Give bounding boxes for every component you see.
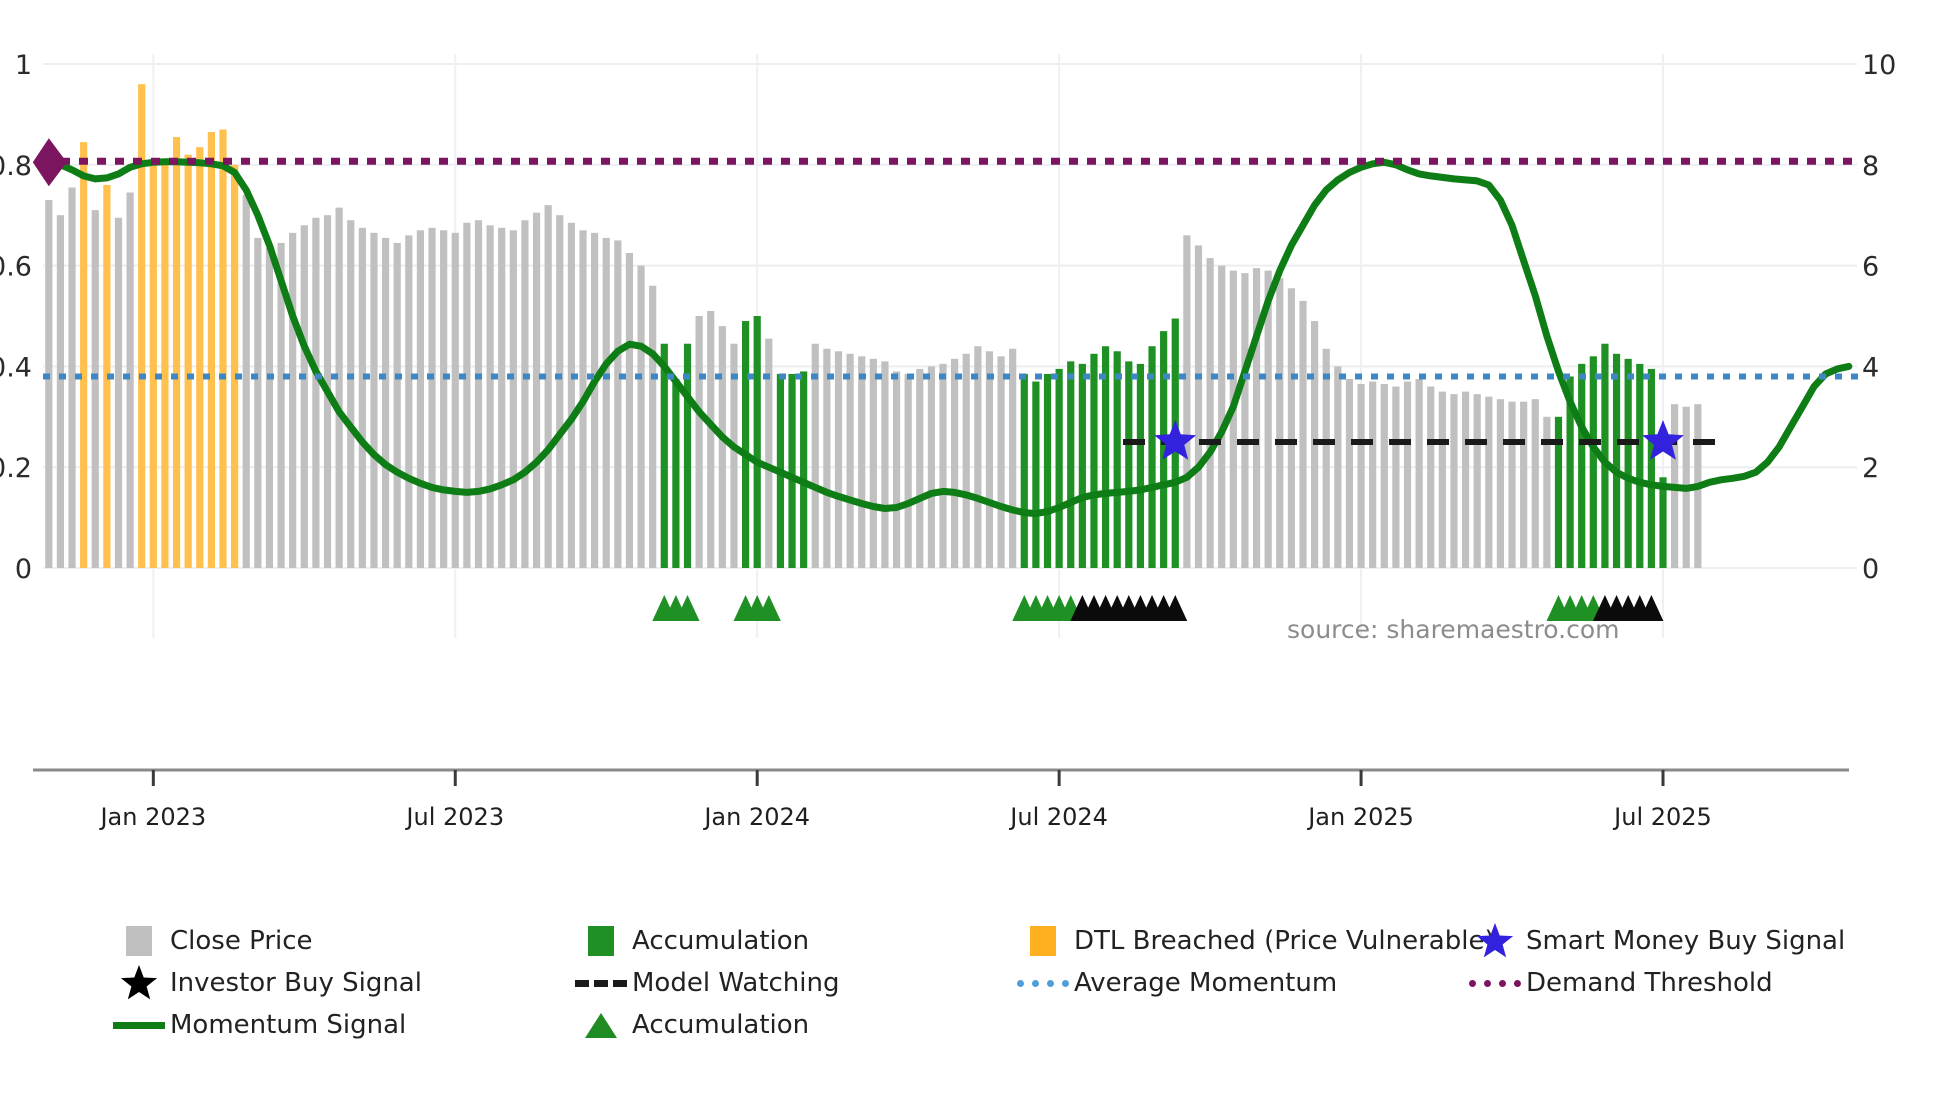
bar-close-price <box>556 215 563 568</box>
bar-close-price <box>1381 384 1388 568</box>
bar-accumulation <box>1578 364 1585 568</box>
bar-accumulation <box>1148 346 1155 568</box>
legend-item-dtl-breached[interactable]: DTL Breached (Price Vulnerable) <box>1012 920 1495 962</box>
legend-item-accumulation-triangle[interactable]: Accumulation <box>570 1004 809 1046</box>
x-axis-label: Jan 2023 <box>98 803 206 831</box>
bar-close-price <box>1009 349 1016 568</box>
legend-row: Momentum SignalAccumulation <box>108 1004 1908 1046</box>
bar-close-price <box>370 233 377 568</box>
bar-close-price <box>974 346 981 568</box>
bar-close-price <box>382 238 389 568</box>
bar-close-price <box>1253 268 1260 568</box>
bar-dtl-breached <box>173 137 180 568</box>
dotted-line-icon <box>1012 980 1074 987</box>
bar-close-price <box>57 215 64 568</box>
bar-accumulation <box>672 379 679 568</box>
legend-label: Smart Money Buy Signal <box>1526 928 1845 954</box>
bar-accumulation <box>1044 374 1051 568</box>
accumulation-bar-swatch-icon <box>570 926 632 956</box>
bar-accumulation <box>1636 364 1643 568</box>
bar-close-price <box>243 195 250 568</box>
bar-close-price <box>428 228 435 568</box>
bar-close-price <box>846 354 853 568</box>
bar-close-price <box>614 240 621 568</box>
bar-accumulation <box>1090 354 1097 568</box>
bar-close-price <box>823 349 830 568</box>
bar-close-price <box>835 351 842 568</box>
bar-dtl-breached <box>161 165 168 568</box>
bar-close-price <box>1241 273 1248 568</box>
y-axis-left-label: 0.6 <box>0 252 32 283</box>
momentum-chart: Jan 2023Jul 2023Jan 2024Jul 2024Jan 2025… <box>0 0 1960 1102</box>
x-axis-label: Jul 2023 <box>404 803 504 831</box>
legend-item-average-momentum[interactable]: Average Momentum <box>1012 962 1337 1004</box>
legend-label: Accumulation <box>632 1012 809 1038</box>
bar-close-price <box>301 225 308 568</box>
bar-close-price <box>475 220 482 568</box>
bar-dtl-breached <box>138 84 145 568</box>
square-icon <box>1030 926 1056 956</box>
close-price-swatch-icon <box>108 926 170 956</box>
bar-close-price <box>1195 245 1202 568</box>
bar-close-price <box>881 361 888 568</box>
legend-item-close-price[interactable]: Close Price <box>108 920 313 962</box>
y-axis-left-label: 0 <box>15 554 32 585</box>
legend-label: Demand Threshold <box>1526 970 1773 996</box>
y-axis-left-label: 0.8 <box>0 151 32 182</box>
bar-dtl-breached <box>185 155 192 568</box>
bar-close-price <box>1520 402 1527 568</box>
bar-close-price <box>1276 278 1283 568</box>
bar-close-price <box>858 356 865 568</box>
source-attribution: source: sharemaestro.com <box>1287 615 1620 644</box>
bar-close-price <box>1404 382 1411 568</box>
bar-close-price <box>1462 392 1469 568</box>
legend-item-model-watching[interactable]: Model Watching <box>570 962 839 1004</box>
bar-close-price <box>1508 402 1515 568</box>
bar-close-price <box>1299 301 1306 568</box>
y-axis-right-label: 4 <box>1862 352 1879 383</box>
bar-close-price <box>719 326 726 568</box>
bar-close-price <box>1288 288 1295 568</box>
y-axis-left-label: 1 <box>15 50 32 81</box>
bar-close-price <box>707 311 714 568</box>
bar-accumulation <box>1032 382 1039 568</box>
bar-close-price <box>1206 258 1213 568</box>
dotted-line-glyph <box>1469 980 1521 987</box>
bar-close-price <box>1427 387 1434 568</box>
bar-close-price <box>1218 266 1225 568</box>
bar-accumulation <box>754 316 761 568</box>
y-axis-right-label: 6 <box>1862 252 1879 283</box>
bar-close-price <box>591 233 598 568</box>
bar-close-price <box>498 228 505 568</box>
star-icon <box>1464 921 1526 961</box>
bar-close-price <box>568 223 575 568</box>
y-axis-right-label: 0 <box>1862 554 1879 585</box>
legend-item-smart-money-buy-signal[interactable]: Smart Money Buy Signal <box>1464 920 1845 962</box>
bar-close-price <box>986 351 993 568</box>
triangle-glyph <box>581 1008 621 1042</box>
bar-close-price <box>1357 384 1364 568</box>
bar-accumulation <box>1648 369 1655 568</box>
bar-accumulation <box>1067 361 1074 568</box>
bar-dtl-breached <box>150 165 157 568</box>
x-axis-label: Jul 2024 <box>1008 803 1108 831</box>
bar-close-price <box>1497 399 1504 568</box>
bar-close-price <box>1532 399 1539 568</box>
square-icon <box>588 926 614 956</box>
bar-close-price <box>916 369 923 568</box>
star-glyph <box>1475 921 1515 961</box>
bar-close-price <box>951 359 958 568</box>
bar-close-price <box>765 339 772 568</box>
bar-accumulation <box>1137 364 1144 568</box>
bar-accumulation <box>661 344 668 568</box>
dashed-line-glyph <box>575 980 627 987</box>
x-axis-label: Jan 2024 <box>702 803 810 831</box>
bar-close-price <box>1323 349 1330 568</box>
bar-close-price <box>68 187 75 568</box>
bar-dtl-breached <box>208 132 215 568</box>
legend-item-momentum-signal[interactable]: Momentum Signal <box>108 1004 406 1046</box>
bar-close-price <box>545 205 552 568</box>
bar-close-price <box>1450 394 1457 568</box>
bar-close-price <box>510 230 517 568</box>
bar-close-price <box>1183 235 1190 568</box>
bar-close-price <box>359 228 366 568</box>
bar-dtl-breached <box>196 147 203 568</box>
bar-close-price <box>405 235 412 568</box>
bar-accumulation <box>1125 361 1132 568</box>
bar-dtl-breached <box>80 142 87 568</box>
legend-label: Investor Buy Signal <box>170 970 422 996</box>
legend-label: Close Price <box>170 928 313 954</box>
bar-accumulation <box>1590 356 1597 568</box>
bar-close-price <box>1346 379 1353 568</box>
bar-close-price <box>92 210 99 568</box>
bar-close-price <box>521 220 528 568</box>
bar-accumulation <box>1021 374 1028 568</box>
solid-line-glyph <box>113 1022 165 1029</box>
bar-close-price <box>649 286 656 568</box>
bar-accumulation <box>1056 369 1063 568</box>
dashed-line-icon <box>570 980 632 987</box>
legend-row: Investor Buy SignalModel WatchingAverage… <box>108 962 1908 1004</box>
dotted-line-icon <box>1464 980 1526 987</box>
bar-close-price <box>312 218 319 568</box>
bar-close-price <box>126 193 133 568</box>
bar-close-price <box>1334 366 1341 568</box>
x-axis-label: Jul 2025 <box>1612 803 1712 831</box>
bar-close-price <box>637 266 644 568</box>
bar-close-price <box>394 243 401 568</box>
bar-close-price <box>997 356 1004 568</box>
bar-accumulation <box>1659 477 1666 568</box>
bar-close-price <box>533 213 540 568</box>
bar-close-price <box>1485 397 1492 568</box>
y-axis-right-label: 8 <box>1862 151 1879 182</box>
bar-dtl-breached <box>219 130 226 568</box>
bar-accumulation <box>742 321 749 568</box>
square-icon <box>126 926 152 956</box>
bar-accumulation <box>1079 364 1086 568</box>
y-axis-right-label: 10 <box>1862 50 1896 81</box>
bar-accumulation <box>1102 346 1109 568</box>
dtl-breached-swatch-icon <box>1012 926 1074 956</box>
legend-label: Average Momentum <box>1074 970 1337 996</box>
bar-close-price <box>347 220 354 568</box>
bar-close-price <box>289 233 296 568</box>
triangle-icon <box>570 1008 632 1042</box>
bar-close-price <box>463 223 470 568</box>
bar-accumulation <box>788 374 795 568</box>
bar-close-price <box>254 238 261 568</box>
bar-close-price <box>417 230 424 568</box>
legend-label: Momentum Signal <box>170 1012 406 1038</box>
legend-label: Model Watching <box>632 970 839 996</box>
legend-item-demand-threshold[interactable]: Demand Threshold <box>1464 962 1773 1004</box>
bar-close-price <box>1474 394 1481 568</box>
bar-close-price <box>266 248 273 568</box>
bar-close-price <box>963 354 970 568</box>
bar-close-price <box>486 225 493 568</box>
x-axis-label: Jan 2025 <box>1306 803 1414 831</box>
legend-item-investor-buy-signal[interactable]: Investor Buy Signal <box>108 962 422 1004</box>
legend-item-accumulation-bar[interactable]: Accumulation <box>570 920 809 962</box>
bar-close-price <box>452 233 459 568</box>
bar-close-price <box>45 200 52 568</box>
bar-close-price <box>893 371 900 568</box>
bar-close-price <box>870 359 877 568</box>
bar-close-price <box>603 238 610 568</box>
bar-close-price <box>696 316 703 568</box>
bar-close-price <box>626 253 633 568</box>
y-axis-left-label: 0.2 <box>0 453 32 484</box>
bar-close-price <box>1369 382 1376 568</box>
bar-close-price <box>115 218 122 568</box>
star-glyph <box>119 963 159 1003</box>
chart-legend: Close PriceAccumulationDTL Breached (Pri… <box>108 920 1908 1070</box>
legend-label: DTL Breached (Price Vulnerable) <box>1074 928 1495 954</box>
bar-close-price <box>336 208 343 568</box>
bar-accumulation <box>1613 354 1620 568</box>
line-icon <box>108 1022 170 1029</box>
legend-row: Close PriceAccumulationDTL Breached (Pri… <box>108 920 1908 962</box>
y-axis-left-label: 0.4 <box>0 352 32 383</box>
bar-close-price <box>440 230 447 568</box>
bar-close-price <box>1416 379 1423 568</box>
star-icon <box>108 963 170 1003</box>
bar-close-price <box>939 364 946 568</box>
bar-accumulation <box>1625 359 1632 568</box>
legend-label: Accumulation <box>632 928 809 954</box>
demand-threshold-diamond <box>33 138 67 186</box>
bar-dtl-breached <box>231 165 238 568</box>
bar-close-price <box>905 374 912 568</box>
bar-close-price <box>1439 392 1446 568</box>
bar-accumulation <box>1114 351 1121 568</box>
dotted-line-glyph <box>1017 980 1069 987</box>
bar-accumulation <box>800 371 807 568</box>
bar-close-price <box>928 366 935 568</box>
bar-close-price <box>1392 387 1399 568</box>
y-axis-right-label: 2 <box>1862 453 1879 484</box>
